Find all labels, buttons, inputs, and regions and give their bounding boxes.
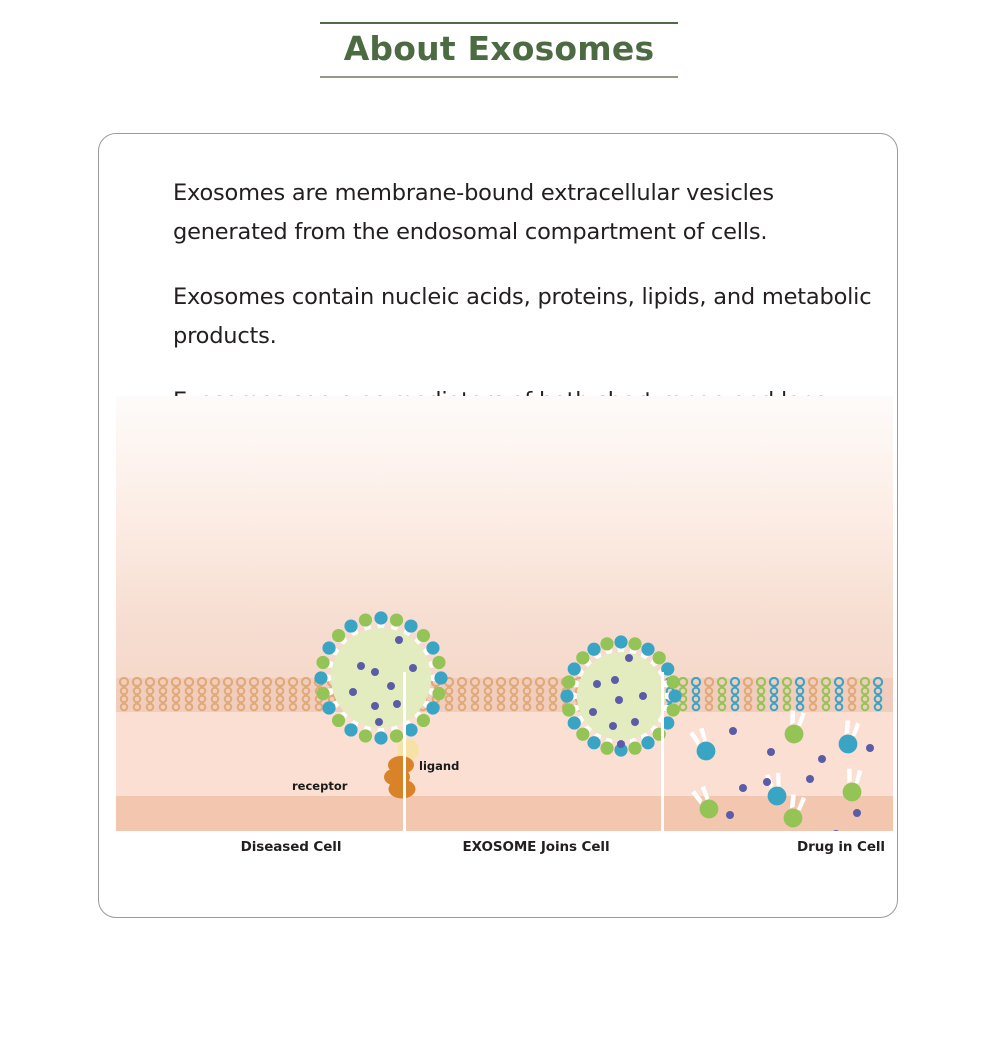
receptor-label: receptor [292,779,347,793]
panel-divider-2 [661,672,664,831]
ligand-label: ligand [419,759,459,773]
content-card: Exosomes are membrane-bound extracellula… [98,133,898,918]
diagram-canvas: ligand receptor [116,396,893,831]
exosome-diagram: ligand receptor Diseased Cell EXOSOME Jo… [116,396,893,876]
caption-diseased-cell: Diseased Cell [176,839,406,855]
title-rule-bottom [320,76,678,78]
page-header: About Exosomes [320,22,678,78]
paragraph-2: Exosomes contain nucleic acids, proteins… [173,278,873,356]
caption-exosome-joins-cell: EXOSOME Joins Cell [421,839,651,855]
molecules-layer [116,396,893,831]
panel-captions: Diseased Cell EXOSOME Joins Cell Drug in… [116,839,893,869]
panel-divider-1 [403,672,406,831]
caption-drug-in-cell: Drug in Cell [726,839,898,855]
page-title: About Exosomes [320,24,678,74]
paragraph-1: Exosomes are membrane-bound extracellula… [173,174,873,252]
